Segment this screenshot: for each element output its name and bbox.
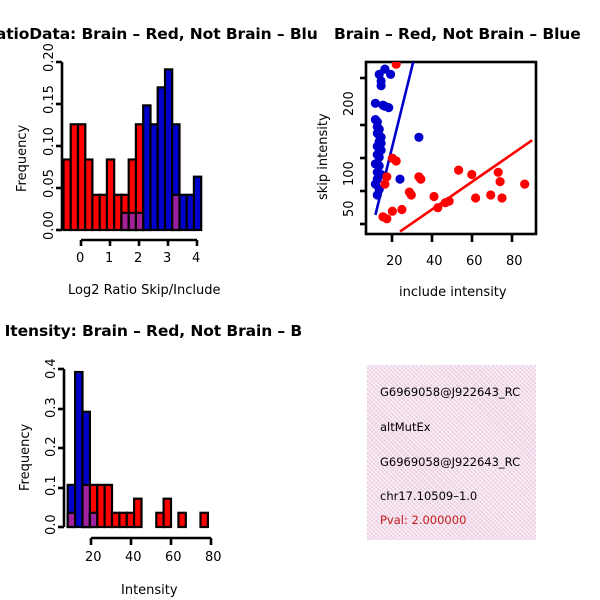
histogram-bar: [112, 513, 119, 527]
scatter-point: [496, 177, 505, 186]
histogram-bar: [136, 213, 143, 230]
annotation-line-probeset-id-2: G6969058@J922643_RC: [380, 455, 520, 469]
panel-annotation-box: G6969058@J922643_RC altMutEx G6969058@J9…: [367, 365, 536, 540]
histogram-bar: [194, 177, 201, 230]
histogram-bar: [201, 513, 208, 527]
histogram-bar: [97, 485, 104, 527]
scatter-point: [395, 175, 404, 184]
histogram-bar: [178, 513, 185, 527]
scatter-point: [445, 197, 454, 206]
scatter-point: [467, 170, 476, 179]
scatter-point: [433, 203, 442, 212]
scatter-point: [392, 156, 401, 165]
scatter-point: [494, 168, 503, 177]
annotation-line-probeset-id: G6969058@J922643_RC: [380, 385, 520, 399]
gene-x-axis: [91, 538, 211, 545]
histogram-bar: [105, 485, 112, 527]
panel-gene-intensity-histogram: ne Itensity: Brain – Red, Not Brain – B …: [0, 300, 300, 600]
scatter-point: [380, 180, 389, 189]
scatter-point: [429, 192, 438, 201]
scatter-point: [497, 193, 506, 202]
histogram-bar: [172, 195, 179, 230]
annotation-line-event-type: altMutEx: [380, 420, 431, 434]
scatter-point: [407, 190, 416, 199]
panel-intensity-scatter: Brain – Red, Not Brain – Blue skip inten…: [300, 0, 600, 300]
scatter-point: [471, 193, 480, 202]
scatter-point: [373, 190, 382, 199]
scatter-point: [386, 70, 395, 79]
histogram-bar: [134, 499, 141, 527]
scatter-point: [384, 103, 393, 112]
panel-ratio-histogram: RatioData: Brain – Red, Not Brain – Blu …: [0, 0, 300, 300]
gene-y-axis: [58, 369, 64, 527]
histogram-bar: [127, 513, 134, 527]
ratio-histogram-svg: [0, 0, 300, 300]
scatter-point: [520, 180, 529, 189]
annotation-line-pval: Pval: 2.000000: [380, 513, 466, 527]
histogram-bar: [75, 372, 82, 527]
histogram-bar: [68, 513, 75, 527]
histogram-bar: [164, 499, 171, 527]
scatter-point: [414, 133, 423, 142]
scatter-point: [388, 207, 397, 216]
scatter-point: [377, 81, 386, 90]
histogram-bar: [90, 513, 97, 527]
scatter-point: [486, 190, 495, 199]
scatter-point: [382, 214, 391, 223]
scatter-svg: [300, 0, 600, 300]
scatter-point: [454, 166, 463, 175]
scatter-point: [416, 175, 425, 184]
ratio-x-axis: [81, 240, 197, 246]
annotation-line-locus: chr17.10509–1.0: [380, 489, 477, 503]
ratio-y-axis: [56, 62, 62, 230]
gene-intensity-svg: [0, 300, 300, 600]
scatter-point: [397, 205, 406, 214]
